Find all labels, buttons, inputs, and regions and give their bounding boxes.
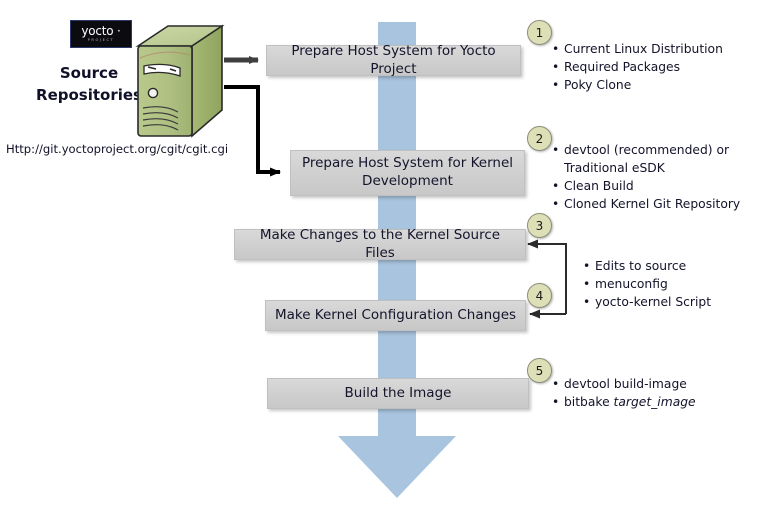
list-item: yocto-kernel Script [583,294,765,312]
source-repositories-label: Source Repositories [28,63,150,107]
list-item: Current Linux Distribution [552,41,764,59]
diagram-canvas: yocto · PROJECT Source Repositories Http… [0,0,769,517]
step-badge-2: 2 [527,126,552,151]
step-box-4[interactable]: Make Kernel Configuration Changes [265,300,526,331]
logo-wordmark: yocto · [81,25,120,37]
list-item: Required Packages [552,59,764,77]
list-item: Poky Clone [552,77,764,95]
list-item: Edits to source [583,258,765,276]
step-2-bullets: devtool (recommended) or Traditional eSD… [552,142,764,214]
server-tower-icon [134,24,226,144]
step-5-bullets: devtool build-image bitbake target_image [552,376,764,412]
step-box-3[interactable]: Make Changes to the Kernel Source Files [234,229,526,260]
logo-subtext: PROJECT [88,39,115,43]
step-badge-4: 4 [527,283,552,308]
step-badge-1: 1 [527,20,552,45]
step-box-1[interactable]: Prepare Host System for Yocto Project [266,45,521,76]
yocto-project-logo: yocto · PROJECT [70,20,132,48]
step-badge-5: 5 [527,358,552,383]
list-item: menuconfig [583,276,765,294]
source-repositories-url: Http://git.yoctoproject.org/cgit/cgit.cg… [6,142,228,156]
list-item: devtool (recommended) or Traditional eSD… [552,142,764,178]
list-item: Cloned Kernel Git Repository [552,196,764,214]
step-box-5[interactable]: Build the Image [267,378,529,409]
list-item: devtool build-image [552,376,764,394]
list-item: Clean Build [552,178,764,196]
list-item: bitbake target_image [552,394,764,412]
step-1-bullets: Current Linux Distribution Required Pack… [552,41,764,95]
main-flow-arrow-head [338,436,456,498]
step-badge-3: 3 [527,213,552,238]
steps-3-4-bullets: Edits to source menuconfig yocto-kernel … [583,258,765,312]
bitbake-command: bitbake [564,395,614,409]
connector-server-to-step2 [224,87,258,172]
step-box-2[interactable]: Prepare Host System for Kernel Developme… [290,150,525,196]
bitbake-target-param: target_image [614,395,696,409]
